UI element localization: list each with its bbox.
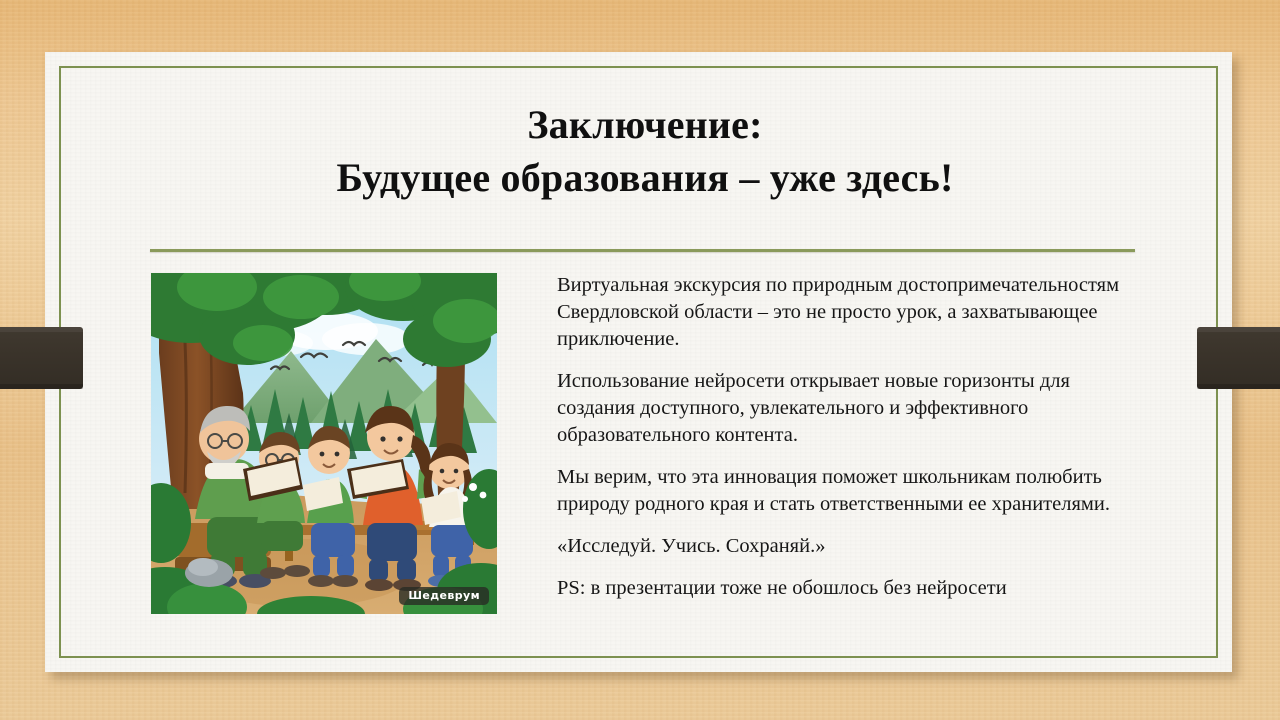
- page-title: Заключение: Будущее образования – уже зд…: [150, 98, 1140, 204]
- body-paragraph-slogan: «Исследуй. Учись. Сохраняй.»: [557, 533, 1137, 560]
- illustration-artwork: [151, 273, 497, 614]
- title-divider: [150, 249, 1135, 252]
- body-paragraph-ps: PS: в презентации тоже не обошлось без н…: [557, 575, 1137, 602]
- body-paragraph: Виртуальная экскурсия по природным досто…: [557, 272, 1137, 353]
- title-line-1: Заключение:: [150, 98, 1140, 151]
- body-paragraph: Мы верим, что эта инновация поможет школ…: [557, 464, 1137, 518]
- decorative-ribbon-right: [1197, 327, 1280, 389]
- body-text-block: Виртуальная экскурсия по природным досто…: [557, 272, 1137, 602]
- body-paragraph: Использование нейросети открывает новые …: [557, 368, 1137, 449]
- forest-family-reading-illustration: Шедеврум: [151, 273, 497, 614]
- decorative-ribbon-left: [0, 327, 83, 389]
- sheduvrum-watermark: Шедеврум: [399, 587, 489, 605]
- title-line-2: Будущее образования – уже здесь!: [150, 151, 1140, 204]
